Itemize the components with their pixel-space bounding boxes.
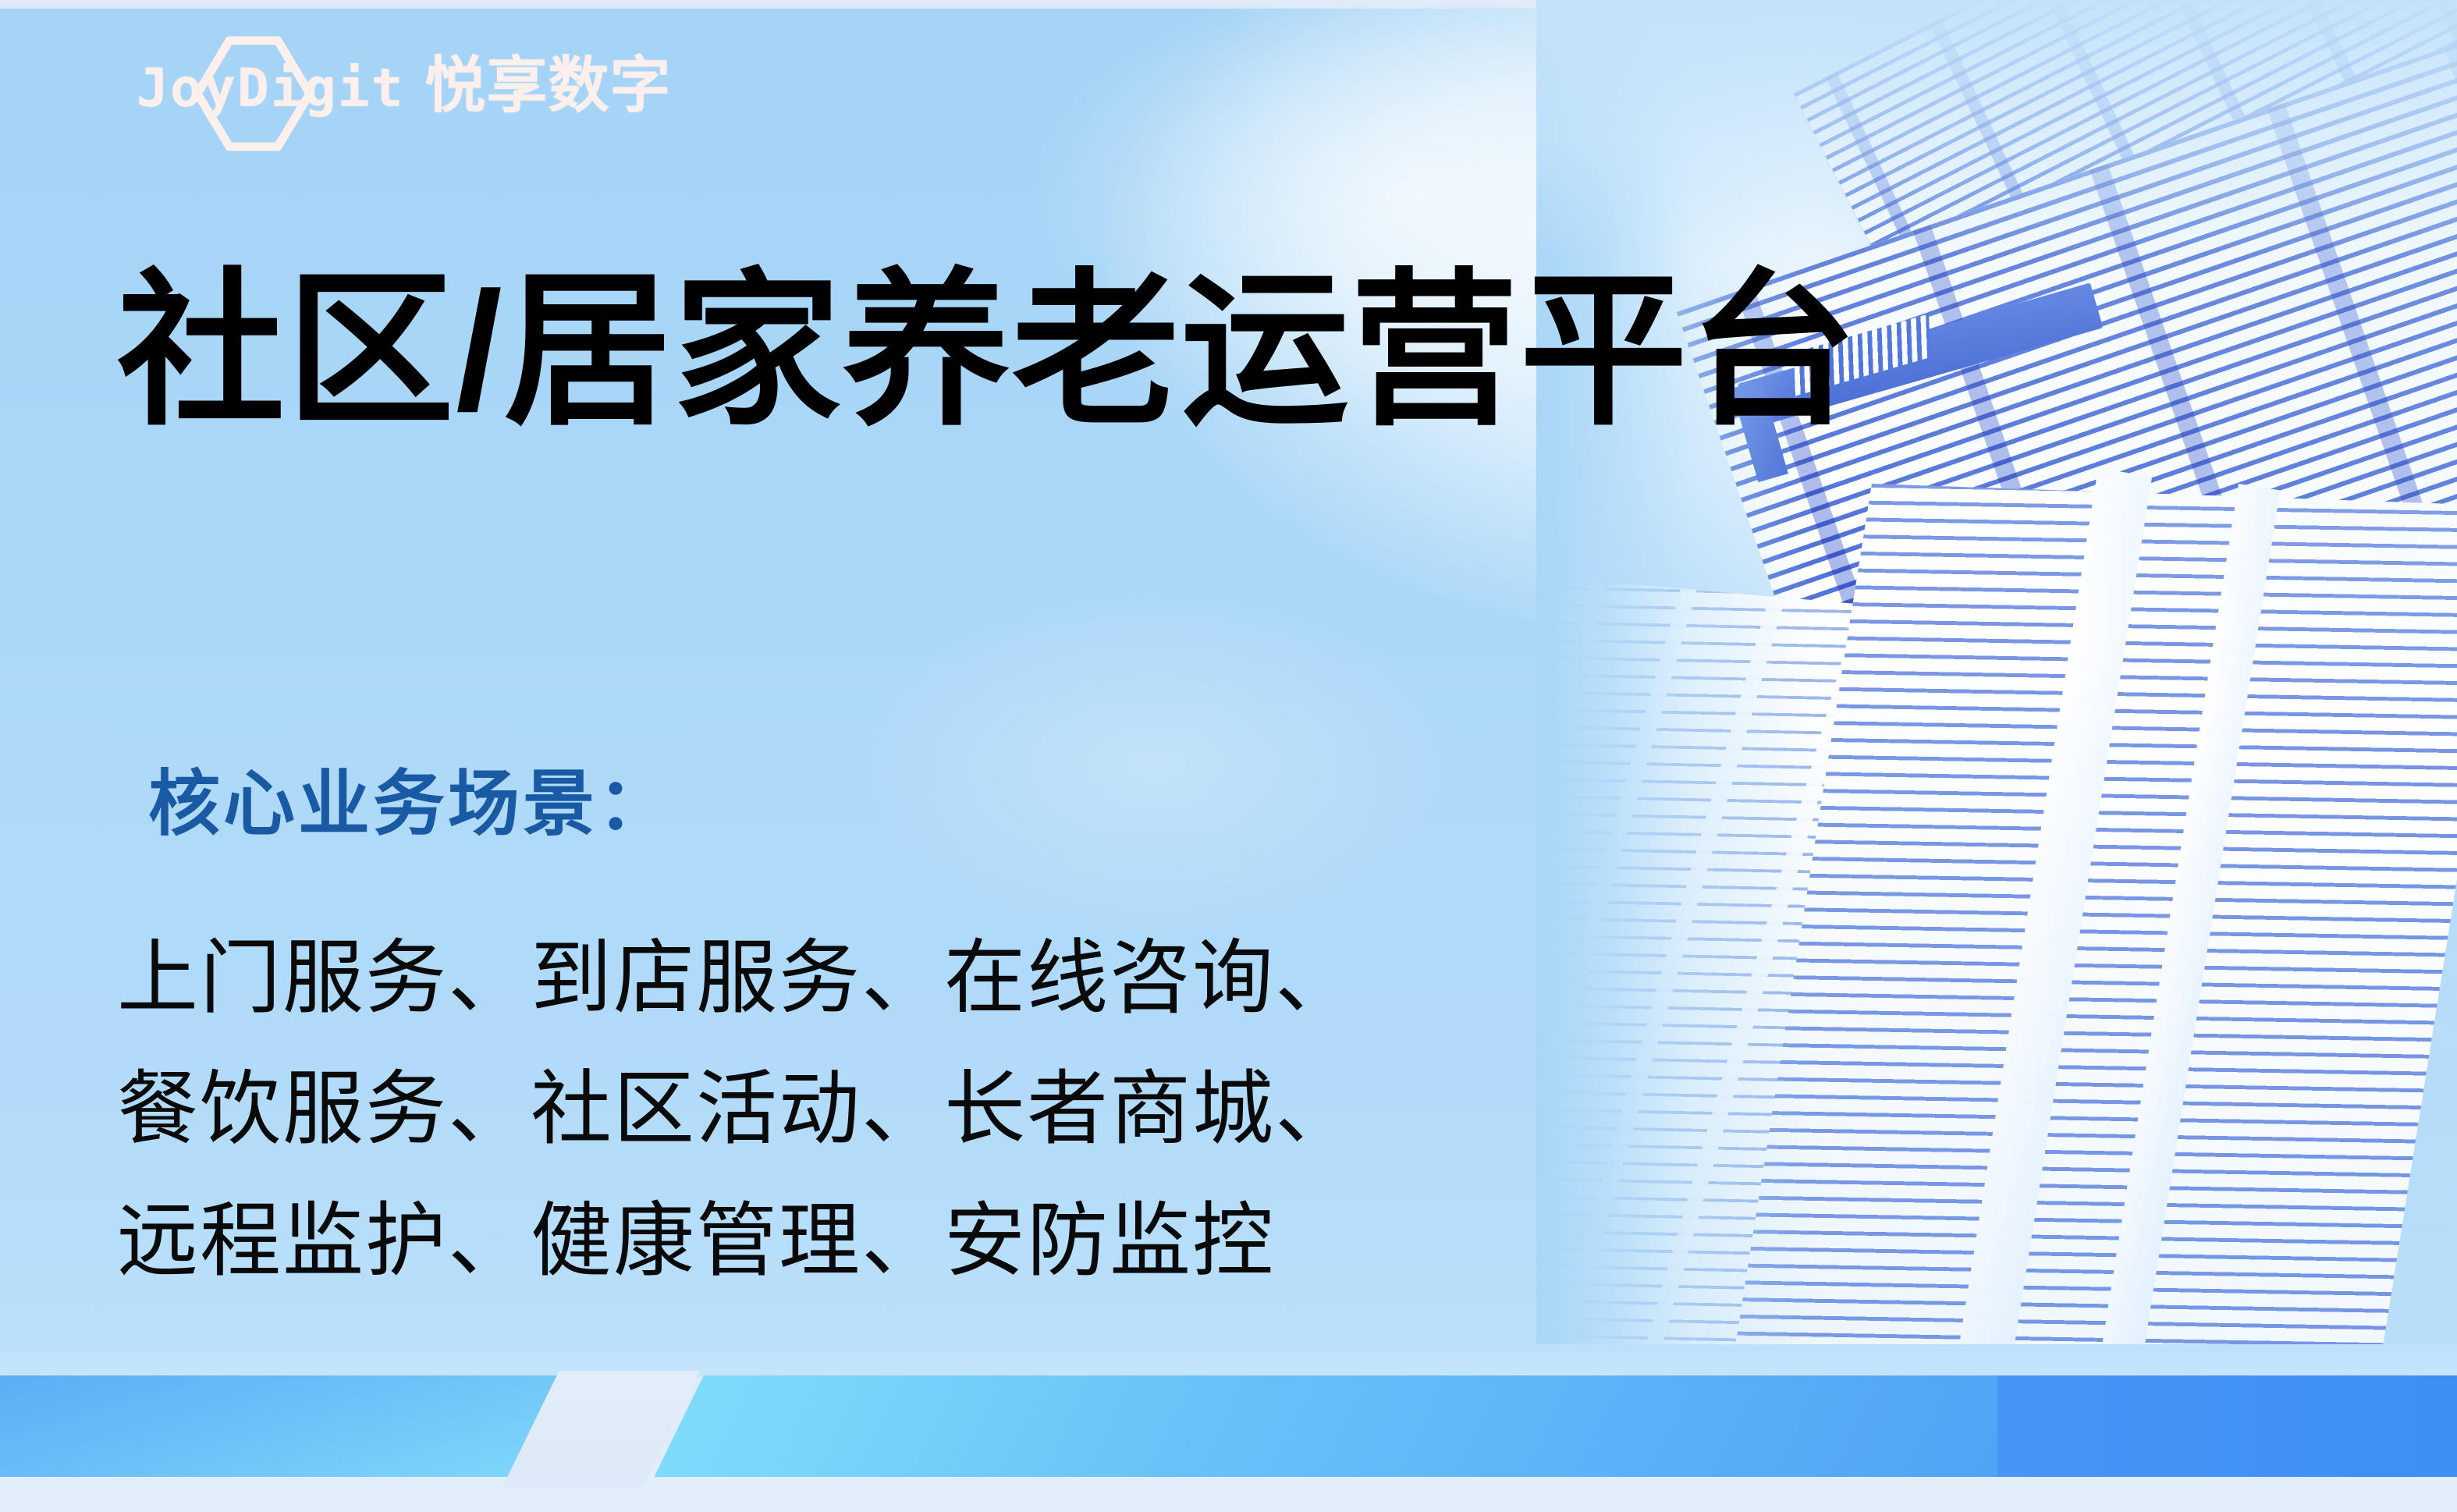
scenario-line: 上门服务、到店服务、在线咨询、	[117, 913, 1358, 1044]
slide-root: JoyDigit悦享数字 社区/居家养老运营平台 核心业务场景： 上门服务、到店…	[0, 0, 2457, 1512]
brand-logo-cn: 悦享数字	[425, 51, 672, 119]
scenario-list: 上门服务、到店服务、在线咨询、 餐饮服务、社区活动、长者商城、 远程监护、健康管…	[117, 913, 1358, 1307]
band-sky-strip	[0, 1344, 2457, 1377]
bottom-decoration-band	[0, 1344, 2457, 1512]
photo-top-fade	[1536, 0, 2457, 257]
brand-logo[interactable]: JoyDigit悦享数字	[137, 33, 667, 134]
brand-logo-en: JoyDigit	[137, 58, 405, 119]
scenario-line: 餐饮服务、社区活动、长者商城、	[117, 1044, 1358, 1175]
page-title: 社区/居家养老运营平台	[117, 257, 1859, 445]
brand-logo-text: JoyDigit悦享数字	[137, 55, 667, 116]
skyscraper-photo	[1536, 0, 2457, 1397]
section-label-core-scenarios: 核心业务场景：	[148, 768, 673, 840]
band-shape-right	[1997, 1375, 2457, 1477]
scenario-line: 远程监护、健康管理、安防监控	[117, 1176, 1358, 1307]
